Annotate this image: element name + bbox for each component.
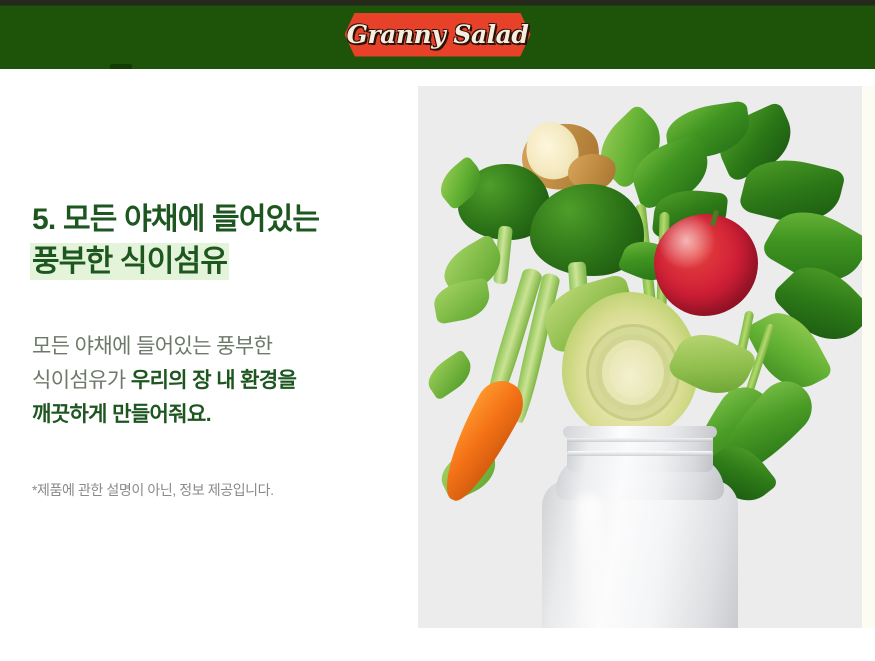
body-line-1: 모든 야채에 들어있는 풍부한: [32, 330, 410, 364]
body-line-2-emphasis: 우리의 장 내 환경을: [131, 369, 296, 392]
body-line-3: 깨끗하게 만들어줘요.: [32, 398, 410, 432]
copy-column: 5. 모든 야채에 들어있는 풍부한 식이섬유 모든 야채에 들어있는 풍부한 …: [32, 199, 410, 500]
content-area: 5. 모든 야채에 들어있는 풍부한 식이섬유 모든 야채에 들어있는 풍부한 …: [0, 69, 875, 661]
headline-line-1: 5. 모든 야채에 들어있는: [32, 199, 410, 241]
celery-frond-icon: [431, 277, 493, 324]
footnote: *제품에 관한 설명이 아닌, 정보 제공입니다.: [32, 480, 410, 500]
headline-highlight: 풍부한 식이섬유: [32, 245, 227, 278]
site-header: Granny Salad: [0, 0, 875, 69]
carrot-greens-icon: [422, 349, 479, 401]
logo-text: Granny Salad: [347, 20, 529, 49]
body-line-2: 식이섬유가 우리의 장 내 환경을: [32, 364, 410, 398]
bottle-body: [542, 480, 738, 628]
headline: 5. 모든 야채에 들어있는 풍부한 식이섬유: [32, 199, 410, 283]
cabbage-rings-icon: [586, 324, 679, 421]
bottle-lip: [563, 426, 717, 438]
supplement-bottle-icon: [542, 420, 738, 628]
bottle-thread-ring: [567, 451, 713, 456]
granny-salad-logo[interactable]: Granny Salad: [345, 13, 531, 57]
body-line-2-normal: 식이섬유가: [32, 369, 131, 392]
panel-right-edge: [862, 86, 875, 628]
body-copy: 모든 야채에 들어있는 풍부한 식이섬유가 우리의 장 내 환경을 깨끗하게 만…: [32, 330, 410, 432]
product-image-panel: [418, 86, 862, 628]
bottle-highlight: [576, 494, 602, 628]
body-line-3-emphasis: 깨끗하게 만들어줘요.: [32, 403, 211, 426]
apple-icon: [654, 214, 758, 316]
headline-line-2: 풍부한 식이섬유: [32, 241, 410, 283]
